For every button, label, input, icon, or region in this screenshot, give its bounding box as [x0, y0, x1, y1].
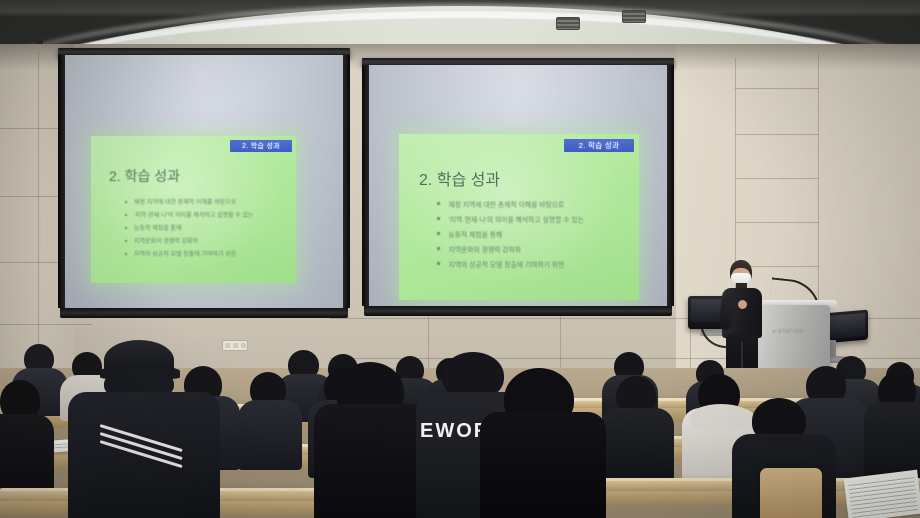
ceiling-vent-icon — [556, 17, 580, 30]
student-body — [864, 402, 920, 478]
student-body — [600, 408, 674, 482]
wall-seam — [428, 312, 429, 374]
student-body — [314, 404, 430, 518]
slide-section-badge: 2. 학습 성과 — [230, 140, 292, 152]
bullet-text: 재정 지역에 대한 총체적 이해를 바탕으로 — [449, 199, 565, 209]
projected-slide: 2. 학습 성과 2. 학습 성과 재정 지역에 대한 총체적 이해를 바탕으로… — [399, 134, 639, 300]
wall-seam — [735, 134, 819, 135]
screen-surface: 2. 학습 성과 2. 학습 성과 재정 지역에 대한 총체적 이해를 바탕으로… — [369, 65, 667, 306]
bullet-dot-icon — [125, 201, 127, 203]
wall-socket-icon — [222, 340, 248, 351]
slide-bullet: 재정 지역에 대한 총체적 이해를 바탕으로 — [437, 196, 633, 211]
bullet-text: 능동적 체험을 통해 — [134, 223, 182, 232]
screen-right-edge — [343, 55, 350, 308]
bullet-dot-icon — [437, 217, 440, 220]
slide-title: 2. 학습 성과 — [419, 166, 500, 190]
slide-bullet: 지역문화의 경쟁력 강화와 — [437, 241, 633, 256]
projected-slide: 2. 학습 성과 2. 학습 성과 재정 지역에 대한 총체적 이해를 바탕으로… — [91, 136, 296, 283]
slide-bullet: 지역문화의 경쟁력 강화와 — [125, 234, 290, 247]
bullet-text: 능동적 체험을 통해 — [449, 229, 503, 239]
bullet-dot-icon — [437, 262, 440, 265]
slide-bullet-list: 재정 지역에 대한 총체적 이해를 바탕으로 '지역·현재·나'의 의미를 해석… — [437, 196, 633, 271]
slide-bullet: 재정 지역에 대한 총체적 이해를 바탕으로 — [125, 195, 290, 208]
bullet-text: '지역·현재·나'의 의미를 해석하고 설명할 수 있는 — [449, 214, 584, 224]
right-screen: 2. 학습 성과 2. 학습 성과 재정 지역에 대한 총체적 이해를 바탕으로… — [362, 58, 674, 316]
ceiling-vent-icon — [622, 10, 646, 23]
slide-bullet: 지역의 성공적 모델 창출에 기여하기 위한 — [437, 256, 633, 271]
podium-brand-label: e-STATION — [766, 328, 810, 335]
screen-bottom-bar — [60, 308, 348, 318]
screen-surface: 2. 학습 성과 2. 학습 성과 재정 지역에 대한 총체적 이해를 바탕으로… — [65, 55, 343, 308]
wall-seam — [735, 178, 819, 179]
chair-back — [760, 468, 822, 518]
slide-title: 2. 학습 성과 — [109, 166, 180, 186]
slide-bullet: 지역의 성공적 모델 창출에 기여하기 위한 — [125, 247, 290, 260]
slide-section-badge: 2. 학습 성과 — [564, 139, 634, 152]
bullet-dot-icon — [437, 202, 440, 205]
bullet-dot-icon — [437, 232, 440, 235]
bullet-text: 지역문화의 경쟁력 강화와 — [134, 236, 198, 245]
lecture-hall-scene: 2. 학습 성과 2. 학습 성과 재정 지역에 대한 총체적 이해를 바탕으로… — [0, 0, 920, 518]
student-body — [480, 412, 606, 518]
paper-lines — [848, 474, 918, 518]
bullet-dot-icon — [125, 240, 127, 242]
slide-bullet: '지역·현재·나'의 의미를 해석하고 설명할 수 있는 — [125, 208, 290, 221]
student-body — [238, 400, 302, 470]
slide-bullet: 능동적 체험을 통해 — [125, 221, 290, 234]
presenter-hand — [738, 300, 747, 309]
left-screen: 2. 학습 성과 2. 학습 성과 재정 지역에 대한 총체적 이해를 바탕으로… — [58, 48, 350, 318]
bullet-dot-icon — [125, 227, 127, 229]
screen-left-edge — [58, 55, 65, 308]
screen-right-edge — [667, 65, 674, 306]
screen-left-edge — [362, 65, 369, 306]
bullet-dot-icon — [125, 253, 127, 255]
bullet-text: 지역문화의 경쟁력 강화와 — [449, 244, 522, 254]
wall-seam — [560, 312, 561, 374]
presenter — [714, 260, 770, 378]
handout-paper — [844, 470, 920, 518]
slide-bullet-list: 재정 지역에 대한 총체적 이해를 바탕으로 '지역·현재·나'의 의미를 해석… — [125, 195, 290, 260]
slide-bullet: 능동적 체험을 통해 — [437, 226, 633, 241]
wall-seam — [0, 324, 92, 325]
bullet-text: 지역의 성공적 모델 창출에 기여하기 위한 — [449, 259, 565, 269]
hoodie-hood — [690, 404, 752, 430]
bullet-text: 재정 지역에 대한 총체적 이해를 바탕으로 — [134, 197, 236, 206]
bullet-dot-icon — [125, 214, 127, 216]
screen-bottom-bar — [364, 306, 672, 316]
wall-seam — [735, 222, 819, 223]
slide-bullet: '지역·현재·나'의 의미를 해석하고 설명할 수 있는 — [437, 211, 633, 226]
wall-seam — [735, 88, 819, 89]
bullet-dot-icon — [437, 247, 440, 250]
wall-seam — [38, 52, 39, 372]
bullet-text: 지역의 성공적 모델 창출에 기여하기 위한 — [134, 249, 236, 258]
bullet-text: '지역·현재·나'의 의미를 해석하고 설명할 수 있는 — [134, 210, 254, 219]
